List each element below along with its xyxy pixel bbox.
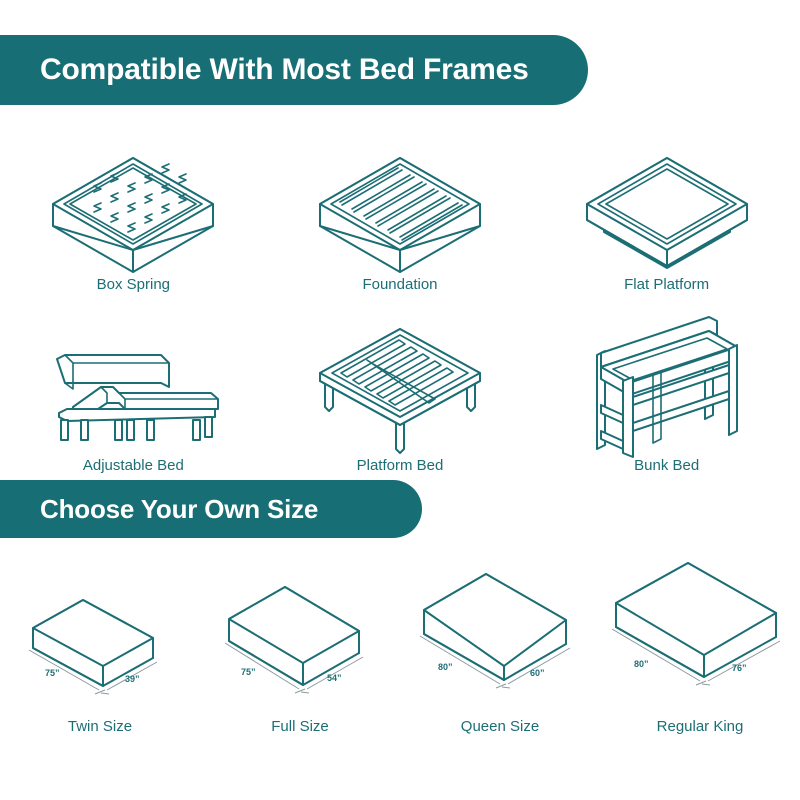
- size-item-full: 75” 54” Full Size: [200, 555, 400, 735]
- frame-label-box-spring: Box Spring: [97, 276, 170, 293]
- dim-length-queen: 80”: [438, 662, 453, 672]
- box-spring-icon: [48, 142, 218, 274]
- dim-length-twin: 75”: [45, 668, 60, 678]
- mattress-queen-icon: 80” 60”: [418, 569, 583, 714]
- flat-platform-icon: [582, 142, 752, 274]
- banner-choose-size-title: Choose Your Own Size: [40, 494, 318, 525]
- size-label-twin: Twin Size: [68, 718, 132, 735]
- mattress-twin-icon: 75” 39”: [25, 569, 175, 714]
- dim-width-twin: 39”: [125, 674, 140, 684]
- size-label-full: Full Size: [271, 718, 329, 735]
- bunk-bed-icon: [587, 323, 747, 455]
- foundation-icon: [315, 142, 485, 274]
- frame-item-foundation: Foundation: [267, 118, 534, 293]
- frame-label-platform-bed: Platform Bed: [357, 457, 444, 474]
- size-label-regular-king: Regular King: [657, 718, 744, 735]
- frame-item-platform-bed: Platform Bed: [267, 299, 534, 474]
- banner-choose-size: Choose Your Own Size: [0, 480, 422, 538]
- banner-compatible-frames-title: Compatible With Most Bed Frames: [40, 53, 529, 87]
- dim-length-king: 80”: [634, 659, 649, 669]
- infographic-page: Compatible With Most Bed Frames: [0, 0, 800, 800]
- size-item-queen: 80” 60” Queen Size: [400, 555, 600, 735]
- frame-item-bunk-bed: Bunk Bed: [533, 299, 800, 474]
- bed-frame-grid: Box Spring: [0, 118, 800, 474]
- size-item-regular-king: 80” 76” Regular King: [600, 555, 800, 735]
- frame-label-foundation: Foundation: [362, 276, 437, 293]
- mattress-full-icon: 75” 54”: [223, 569, 378, 714]
- frame-item-box-spring: Box Spring: [0, 118, 267, 293]
- size-item-twin: 75” 39” Twin Size: [0, 555, 200, 735]
- dim-width-full: 54”: [327, 673, 342, 683]
- mattress-king-icon: 80” 76”: [610, 569, 790, 714]
- frame-item-adjustable-bed: Adjustable Bed: [0, 299, 267, 474]
- mattress-size-grid: 75” 39” Twin Size 75” 54”: [0, 555, 800, 735]
- adjustable-bed-icon: [43, 323, 223, 455]
- dim-width-king: 76”: [732, 663, 747, 673]
- frame-label-bunk-bed: Bunk Bed: [634, 457, 699, 474]
- banner-compatible-frames: Compatible With Most Bed Frames: [0, 35, 588, 105]
- frame-label-flat-platform: Flat Platform: [624, 276, 709, 293]
- size-label-queen: Queen Size: [461, 718, 539, 735]
- frame-item-flat-platform: Flat Platform: [533, 118, 800, 293]
- platform-bed-icon: [315, 323, 485, 455]
- frame-label-adjustable-bed: Adjustable Bed: [83, 457, 184, 474]
- dim-width-queen: 60”: [530, 668, 545, 678]
- dim-length-full: 75”: [241, 667, 256, 677]
